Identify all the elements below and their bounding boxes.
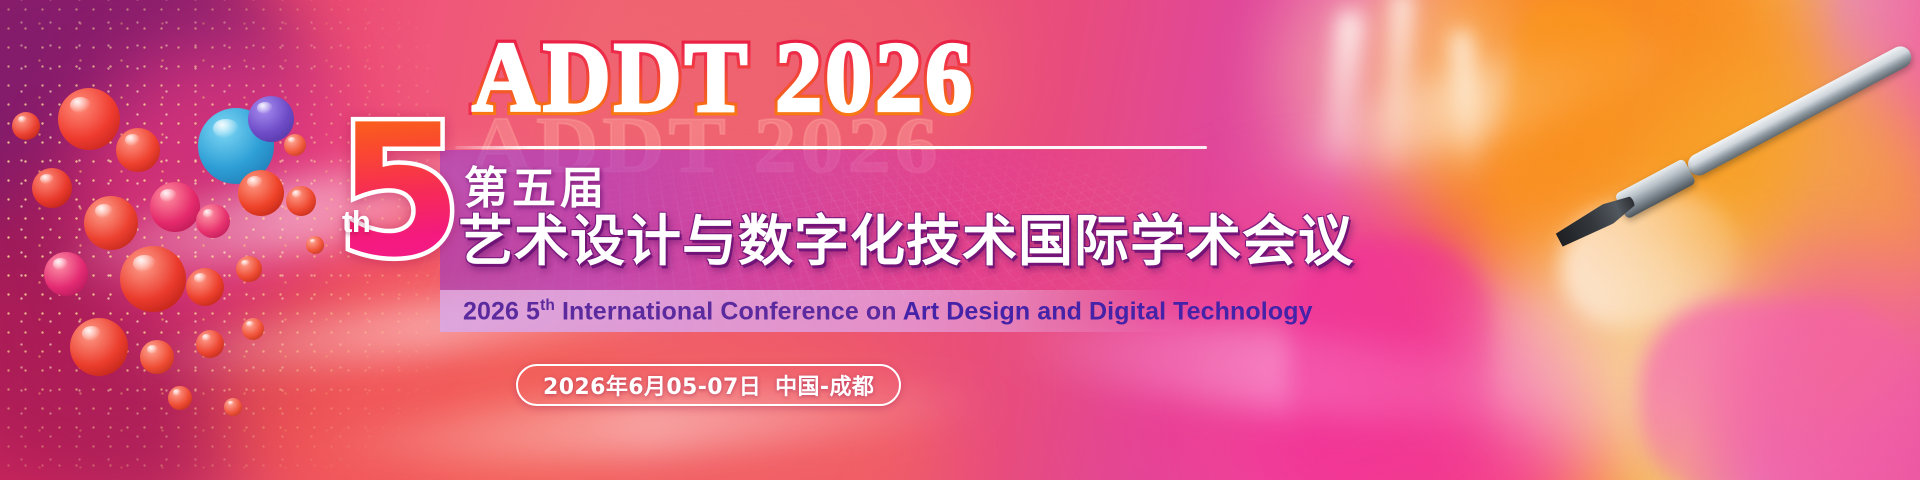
page-title: ADDT 2026 ADDT 2026 ADDT 2026 bbox=[472, 28, 975, 128]
event-date: 2026年6月05-07日 bbox=[543, 375, 761, 400]
edition-suffix: th bbox=[342, 204, 370, 240]
date-location-text: 2026年6月05-07日中国-成都 bbox=[543, 369, 874, 401]
banner-content: ADDT 2026 ADDT 2026 ADDT 2026 第五届 艺术设计与数… bbox=[0, 0, 1920, 480]
main-title-fill: ADDT 2026 bbox=[472, 23, 975, 133]
event-location: 中国-成都 bbox=[775, 375, 874, 400]
title-divider bbox=[455, 146, 1207, 149]
english-subtitle-prefix: 2026 5 bbox=[463, 297, 540, 325]
chinese-conference-title: 艺术设计与数字化技术国际学术会议 bbox=[458, 196, 1354, 276]
date-location-badge: 2026年6月05-07日中国-成都 bbox=[516, 364, 901, 406]
english-subtitle: 2026 5th International Conference on Art… bbox=[463, 297, 1313, 326]
english-subtitle-ordinal: th bbox=[540, 297, 555, 314]
english-subtitle-accent: Art Design and Digital Technology bbox=[903, 297, 1313, 325]
edition-logo: 5 5 th bbox=[336, 108, 464, 276]
conference-banner: ADDT 2026 ADDT 2026 ADDT 2026 ADDT 2026 … bbox=[0, 0, 1920, 480]
edition-number: 5 bbox=[336, 108, 459, 275]
english-subtitle-mid: International Conference on bbox=[555, 297, 903, 325]
